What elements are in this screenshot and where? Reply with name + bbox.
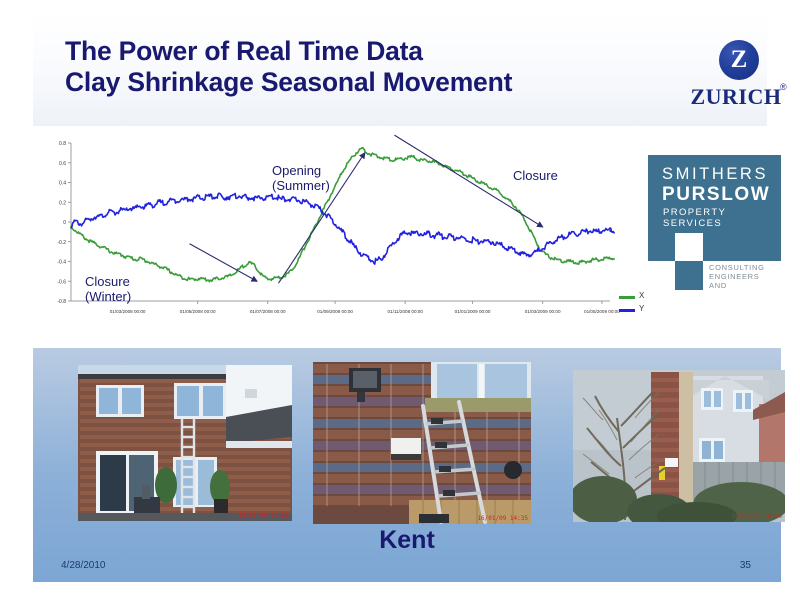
photo-garden-tree-and-house-corner: 16/01/09 14:40 <box>573 370 785 522</box>
svg-text:0.2: 0.2 <box>59 200 66 206</box>
annotation-closure-winter-line1: Closure <box>85 274 131 289</box>
slide: The Power of Real Time Data Clay Shrinka… <box>0 0 800 600</box>
slide-caption-kent: Kent <box>33 526 781 555</box>
svg-text:01/09/2008 00:00: 01/09/2008 00:00 <box>317 309 353 314</box>
zurich-wordmark: ZURICH <box>688 84 784 110</box>
legend-label-x: X <box>639 291 644 300</box>
photo-house-rear-elevation-with-ladder: 16/01/09 14:22 <box>78 365 292 521</box>
photo-3-graphic <box>573 370 785 522</box>
smithers-sub-line-2: ENGINEERS <box>709 272 781 281</box>
chart-card: 0.80.60.40.20-0.2-0.4-0.6-0.801/03/2008 … <box>33 133 640 338</box>
smithers-sub-line-3: AND SURVEYORS <box>709 281 781 290</box>
photo-2-timestamp: 16/01/09 14:35 <box>477 515 528 522</box>
zurich-logo: Z ZURICH ® <box>688 40 792 122</box>
legend-item-x: X <box>619 291 667 304</box>
svg-text:-0.2: -0.2 <box>57 240 66 246</box>
annotation-opening-line1: Opening <box>272 163 330 178</box>
slide-header: The Power of Real Time Data Clay Shrinka… <box>33 8 767 126</box>
seasonal-movement-chart: 0.80.60.40.20-0.2-0.4-0.6-0.801/03/2008 … <box>33 133 640 338</box>
smithers-line-1: SMITHERS <box>662 165 768 184</box>
smithers-line-2: PURSLOW <box>662 184 770 206</box>
footer-date: 4/28/2010 <box>61 560 106 571</box>
smithers-subtitle: CONSULTING ENGINEERS AND SURVEYORS <box>709 263 781 290</box>
annotation-closure: Closure <box>513 168 558 183</box>
title-line-1: The Power of Real Time Data <box>65 36 645 67</box>
svg-text:01/11/2008 00:00: 01/11/2008 00:00 <box>387 309 423 314</box>
svg-text:01/05/2009 00:00: 01/05/2009 00:00 <box>584 309 620 314</box>
chart-legend: X Y <box>619 291 667 321</box>
title-line-2: Clay Shrinkage Seasonal Movement <box>65 67 645 98</box>
photo-1-graphic <box>78 365 292 521</box>
photo-brick-wall-closeup-with-ladder: 16/01/09 14:35 <box>313 362 531 524</box>
legend-swatch-x <box>619 296 635 299</box>
svg-text:01/05/2008 00:00: 01/05/2008 00:00 <box>180 309 216 314</box>
svg-text:-0.4: -0.4 <box>57 260 66 266</box>
chart-svg: 0.80.60.40.20-0.2-0.4-0.6-0.801/03/2008 … <box>33 133 640 338</box>
svg-text:0.4: 0.4 <box>59 181 66 187</box>
smithers-checker-square-blue <box>675 261 703 290</box>
photo-1-timestamp: 16/01/09 14:22 <box>238 512 289 519</box>
annotation-closure-winter-line2: (Winter) <box>85 289 131 304</box>
annotation-closure-winter: Closure (Winter) <box>85 274 131 304</box>
smithers-checker-square-white <box>675 233 703 261</box>
annotation-opening-summer: Opening (Summer) <box>272 163 330 193</box>
svg-text:01/01/2009 00:00: 01/01/2009 00:00 <box>455 309 491 314</box>
zurich-circle-icon: Z <box>719 40 759 80</box>
smithers-sub-line-1: CONSULTING <box>709 263 781 272</box>
annotation-opening-line2: (Summer) <box>272 178 330 193</box>
svg-text:01/07/2008 00:00: 01/07/2008 00:00 <box>250 309 286 314</box>
legend-swatch-y <box>619 309 635 312</box>
photo-3-timestamp: 16/01/09 14:40 <box>731 513 782 520</box>
zurich-registered-mark: ® <box>780 82 787 92</box>
legend-item-y: Y <box>619 304 667 317</box>
svg-text:0: 0 <box>63 220 66 226</box>
smithers-purslow-logo: SMITHERS PURSLOW PROPERTY SERVICES CONSU… <box>648 155 781 290</box>
svg-text:0.8: 0.8 <box>59 141 66 147</box>
zurich-z-letter: Z <box>719 40 759 80</box>
svg-text:-0.6: -0.6 <box>57 279 66 285</box>
svg-text:01/03/2009 00:00: 01/03/2009 00:00 <box>525 309 561 314</box>
legend-label-y: Y <box>639 304 644 313</box>
page-title: The Power of Real Time Data Clay Shrinka… <box>65 36 645 98</box>
footer-page-number: 35 <box>740 560 751 571</box>
photo-band: 16/01/09 14:22 <box>33 348 781 582</box>
smithers-line-3: PROPERTY SERVICES <box>663 207 781 229</box>
photo-2-graphic <box>313 362 531 524</box>
svg-text:01/03/2008 00:00: 01/03/2008 00:00 <box>110 309 146 314</box>
svg-text:0.6: 0.6 <box>59 161 66 167</box>
svg-text:-0.8: -0.8 <box>57 299 66 305</box>
